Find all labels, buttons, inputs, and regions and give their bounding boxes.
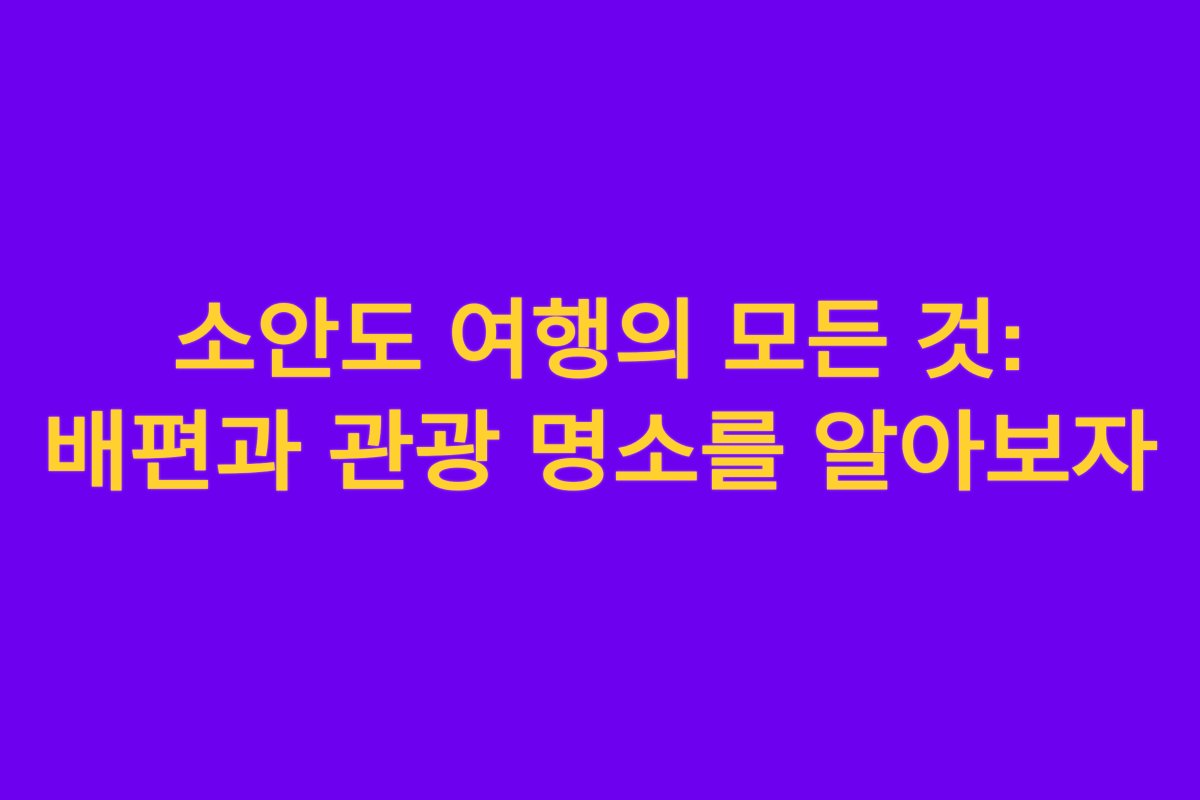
thumbnail-banner: 소안도 여행의 모든 것: 배편과 관광 명소를 알아보자 [0, 0, 1200, 800]
title-line-1: 소안도 여행의 모든 것: [0, 285, 1200, 397]
title-line-2: 배편과 관광 명소를 알아보자 [0, 397, 1200, 509]
page-title: 소안도 여행의 모든 것: 배편과 관광 명소를 알아보자 [0, 285, 1200, 509]
